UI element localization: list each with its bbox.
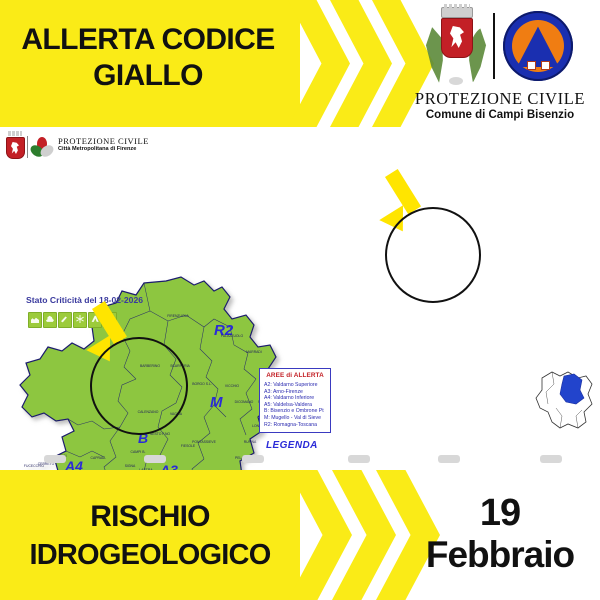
temporali-icon: [43, 312, 57, 328]
svg-text:FIESOLE: FIESOLE: [181, 444, 196, 448]
svg-text:RUFINA: RUFINA: [244, 440, 257, 444]
risk-type-line2: IDROGEOLOGICO: [6, 536, 294, 574]
map-left-org-subtitle: Città Metropolitana di Firenze: [58, 146, 136, 152]
logo-subtitle: Comune di Campi Bisenzio: [404, 108, 596, 122]
legend-title: AREE di ALLERTA: [264, 372, 326, 379]
risk-type-line1: RISCHIO: [90, 500, 209, 533]
protezione-civile-toscana-badge-icon: [503, 11, 573, 81]
campi-bisenzio-area-highlight: [385, 207, 481, 303]
svg-text:DICOMANO: DICOMANO: [235, 400, 254, 404]
protezione-civile-trefoil-icon: [32, 137, 54, 157]
map-panel-green: PROTEZIONE CIVILE Città Metropolitana di…: [0, 127, 300, 470]
alert-headline-line1: ALLERTA CODICE: [21, 23, 274, 56]
alert-poster: ALLERTA CODICE GIALLO: [0, 0, 600, 600]
legend-item: A4: Valdarno Inferiore: [264, 395, 326, 402]
campi-bisenzio-coat-of-arms-icon: [427, 5, 485, 87]
legend-caption: LEGENDA: [266, 440, 318, 451]
legend-item: A2: Valdarno Superiore: [264, 382, 326, 389]
legend-item: M: Mugello - Val di Sieve: [264, 415, 326, 422]
firenze-crest-icon: [6, 137, 25, 159]
alert-date-day: 19: [480, 492, 520, 534]
tuscany-inset-map: [534, 366, 596, 432]
campi-bisenzio-area-highlight: [90, 337, 188, 435]
header-banner: ALLERTA CODICE GIALLO: [0, 0, 600, 127]
map-left-org-header: PROTEZIONE CIVILE Città Metropolitana di…: [6, 135, 156, 161]
legend-item: A5: Valdelsa-Valdera: [264, 402, 326, 409]
svg-text:FIRENZUOLA: FIRENZUOLA: [167, 314, 189, 318]
logo-divider: [493, 13, 495, 79]
alert-headline-line2: GIALLO: [8, 58, 288, 94]
risk-type-headline: RISCHIO IDROGEOLOGICO: [6, 498, 294, 574]
footer-banner: RISCHIO IDROGEOLOGICO 19 Febbraio: [0, 470, 600, 600]
alert-date: 19 Febbraio: [404, 492, 596, 576]
legend-box: AREE di ALLERTA A2: Valdarno Superiore A…: [259, 368, 331, 433]
scan-artifact-row: [0, 452, 600, 466]
neve-ghiaccio-icon: [73, 312, 87, 328]
legend-item: B: Bisenzio e Ombrone Pt: [264, 408, 326, 415]
maps-area: PROTEZIONE CIVILE Città Metropolitana di…: [0, 127, 600, 470]
idrogeologico-icon: [58, 312, 72, 328]
logo-title: PROTEZIONE CIVILE: [404, 90, 596, 108]
idraulico-icon: [28, 312, 42, 328]
organization-logo-block: PROTEZIONE CIVILE Comune di Campi Bisenz…: [404, 4, 596, 126]
alert-headline: ALLERTA CODICE GIALLO: [8, 22, 288, 94]
svg-text:PONTASSIEVE: PONTASSIEVE: [192, 440, 216, 444]
map-left-org-title: PROTEZIONE CIVILE: [58, 136, 149, 146]
logo-row: [404, 4, 596, 88]
alert-date-month: Febbraio: [404, 534, 596, 576]
legend-item: R2: Romagna-Toscana: [264, 422, 326, 429]
svg-text:M: M: [210, 394, 223, 411]
map-left-status-label: Stato Criticità del 18-02-2026: [26, 295, 143, 305]
svg-text:PALAZZUOLO: PALAZZUOLO: [221, 334, 244, 338]
svg-text:MARRADI: MARRADI: [246, 350, 262, 354]
svg-text:VICCHIO: VICCHIO: [225, 384, 239, 388]
map-panel-yellow: R2 M B A4 A3 A2 A5 FIRENZUOLA PALAZZUOLO…: [300, 127, 600, 470]
legend-item: A3: Arno-Firenze: [264, 389, 326, 396]
svg-text:BORGO S.L.: BORGO S.L.: [192, 382, 212, 386]
